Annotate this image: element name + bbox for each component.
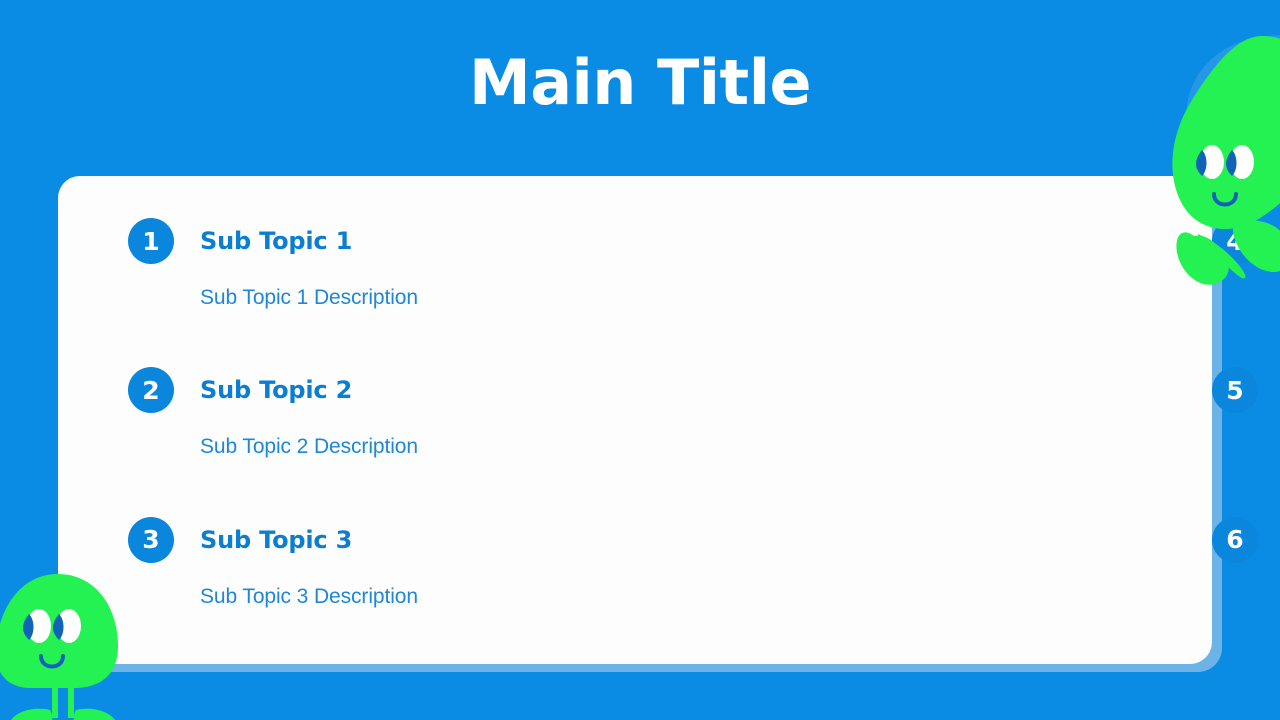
topic-header-2: 2 Sub Topic 2 bbox=[128, 367, 352, 413]
topic-header-1: 1 Sub Topic 1 bbox=[128, 218, 352, 264]
topic-number-badge-3: 3 bbox=[128, 517, 174, 563]
topic-number-badge-5: 5 bbox=[1212, 367, 1258, 413]
topic-header-5: 5 Sub Topic 5 bbox=[1212, 367, 1280, 413]
topic-item-5[interactable]: 5 Sub Topic 5 Sub Topic 5 Description bbox=[604, 343, 1212, 492]
page-title: Main Title bbox=[0, 44, 1280, 122]
topic-description-1: Sub Topic 1 Description bbox=[200, 286, 418, 310]
topic-description-3: Sub Topic 3 Description bbox=[200, 585, 418, 609]
topic-number-badge-6: 6 bbox=[1212, 517, 1258, 563]
topic-header-6: 6 Sub Topic 6 bbox=[1212, 517, 1280, 563]
topic-number-badge-2: 2 bbox=[128, 367, 174, 413]
topic-title-3: Sub Topic 3 bbox=[200, 526, 352, 554]
topic-item-4[interactable]: 4 Sub Topic 4 Sub Topic 4 Description bbox=[604, 194, 1212, 343]
slide-canvas: Main Title 1 Sub Topic 1 Sub Topic 1 Des… bbox=[0, 0, 1280, 720]
topic-description-2: Sub Topic 2 Description bbox=[200, 435, 418, 459]
topic-title-2: Sub Topic 2 bbox=[200, 376, 352, 404]
topics-grid: 1 Sub Topic 1 Sub Topic 1 Description 4 … bbox=[58, 176, 1212, 664]
topic-item-2[interactable]: 2 Sub Topic 2 Sub Topic 2 Description bbox=[58, 343, 604, 492]
topic-title-1: Sub Topic 1 bbox=[200, 227, 352, 255]
topic-number-badge-1: 1 bbox=[128, 218, 174, 264]
topic-item-6[interactable]: 6 Sub Topic 6 Sub Topic 6 Description bbox=[604, 493, 1212, 642]
topic-header-3: 3 Sub Topic 3 bbox=[128, 517, 352, 563]
green-blob-mascot-standing-icon bbox=[0, 560, 142, 720]
green-blob-mascot-waving-icon bbox=[1150, 28, 1280, 288]
topic-item-1[interactable]: 1 Sub Topic 1 Sub Topic 1 Description bbox=[58, 194, 604, 343]
